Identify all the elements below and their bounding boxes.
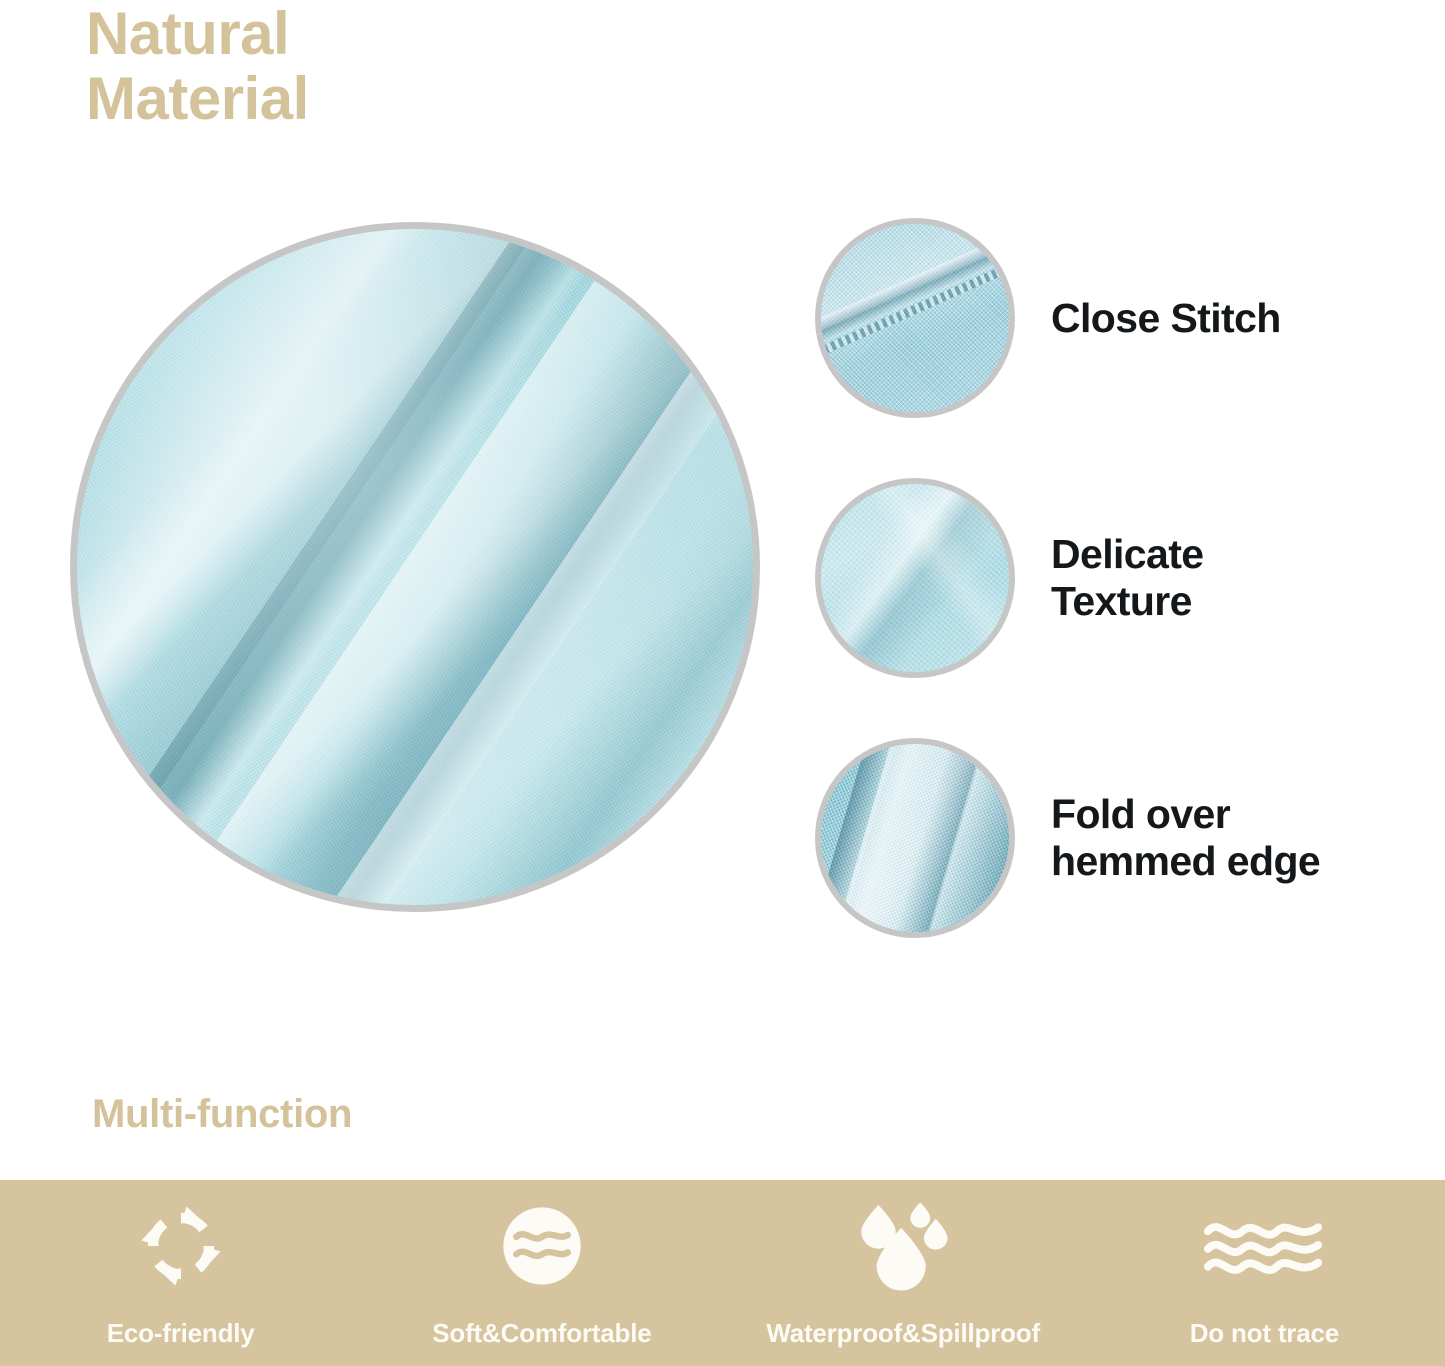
detail-label-delicate-texture: Delicate Texture [1051, 531, 1203, 624]
feature-label-soft-comfortable: Soft&Comfortable [432, 1318, 651, 1349]
detail-row-hemmed-edge: Fold over hemmed edge [815, 738, 1320, 938]
hemmed-edge-swatch [815, 738, 1015, 938]
feature-banner: Eco-friendly Soft&Comfortable [0, 1180, 1445, 1366]
detail-label-close-stitch: Close Stitch [1051, 295, 1281, 342]
wavy-lines-icon [1200, 1198, 1328, 1294]
texture-fold-crease-2 [815, 478, 1015, 678]
soft-waves-circle-icon [496, 1198, 588, 1294]
feature-label-eco-friendly: Eco-friendly [107, 1318, 255, 1349]
detail-row-close-stitch: Close Stitch [815, 218, 1281, 418]
water-droplets-icon [853, 1198, 953, 1294]
page-title-natural-material: Natural Material [86, 2, 309, 132]
delicate-texture-swatch [815, 478, 1015, 678]
close-stitch-swatch [815, 218, 1015, 418]
feature-item-waterproof-spillproof: Waterproof&Spillproof [723, 1180, 1084, 1366]
feature-label-waterproof-spillproof: Waterproof&Spillproof [766, 1318, 1040, 1349]
detail-row-delicate-texture: Delicate Texture [815, 478, 1203, 678]
recycle-icon [135, 1198, 227, 1294]
feature-item-do-not-trace: Do not trace [1084, 1180, 1445, 1366]
detail-label-hemmed-edge: Fold over hemmed edge [1051, 791, 1320, 884]
feature-item-soft-comfortable: Soft&Comfortable [361, 1180, 722, 1366]
feature-item-eco-friendly: Eco-friendly [0, 1180, 361, 1366]
hero-fabric-circle [70, 222, 760, 912]
fabric-sheen [77, 229, 753, 905]
section-title-multi-function: Multi-function [92, 1092, 352, 1137]
feature-label-do-not-trace: Do not trace [1190, 1318, 1339, 1349]
